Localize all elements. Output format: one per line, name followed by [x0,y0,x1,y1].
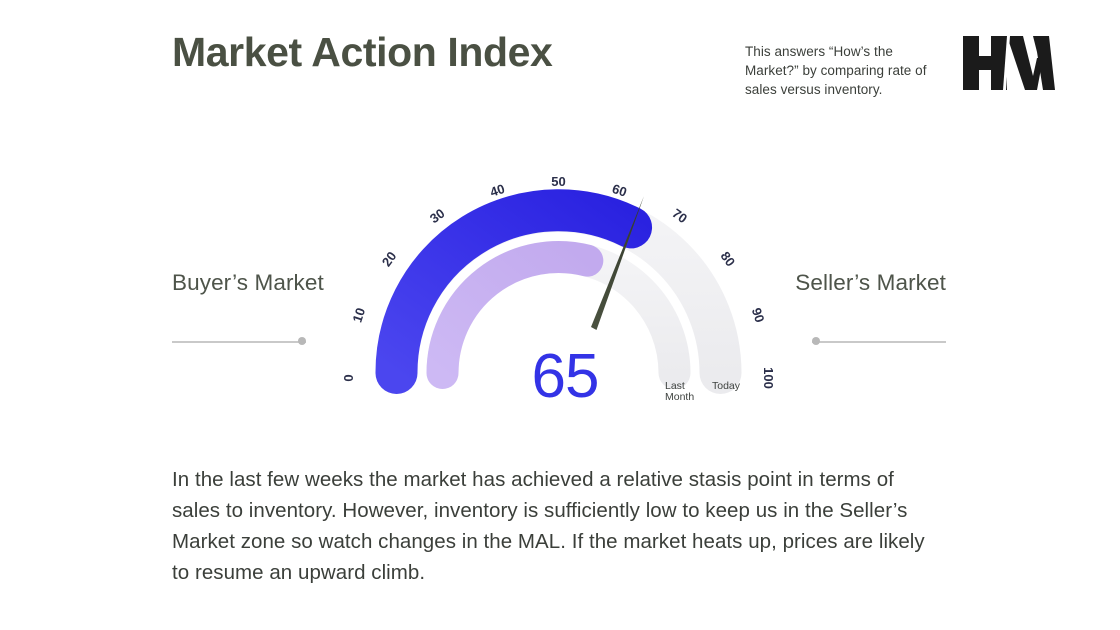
buyers-market-rule [172,337,306,346]
sellers-market-rule [812,337,946,346]
rule-dot [812,337,820,345]
tick-label-10: 10 [349,306,368,324]
market-action-index-slide: Market Action Index This answers “How’s … [0,0,1120,630]
buyers-market-label: Buyer’s Market [172,268,352,298]
header-description: This answers “How’s the Market?” by comp… [745,42,950,99]
tick-label-80: 80 [718,249,739,270]
summary-paragraph: In the last few weeks the market has ach… [172,464,944,588]
hw-logo [963,36,1055,90]
tick-label-70: 70 [669,206,690,227]
tick-label-60: 60 [610,181,628,200]
tick-label-90: 90 [749,306,768,324]
rule-bar [812,341,946,343]
page-title: Market Action Index [172,30,552,75]
tick-label-50: 50 [551,174,565,189]
gauge-value: 65 [330,346,800,408]
tick-label-30: 30 [427,206,448,227]
tick-label-40: 40 [488,181,506,200]
market-action-gauge: 0 10 20 30 40 50 60 70 80 90 100 Last Mo… [330,150,800,415]
rule-dot [298,337,306,345]
tick-label-20: 20 [379,249,400,270]
rule-bar [172,341,306,343]
